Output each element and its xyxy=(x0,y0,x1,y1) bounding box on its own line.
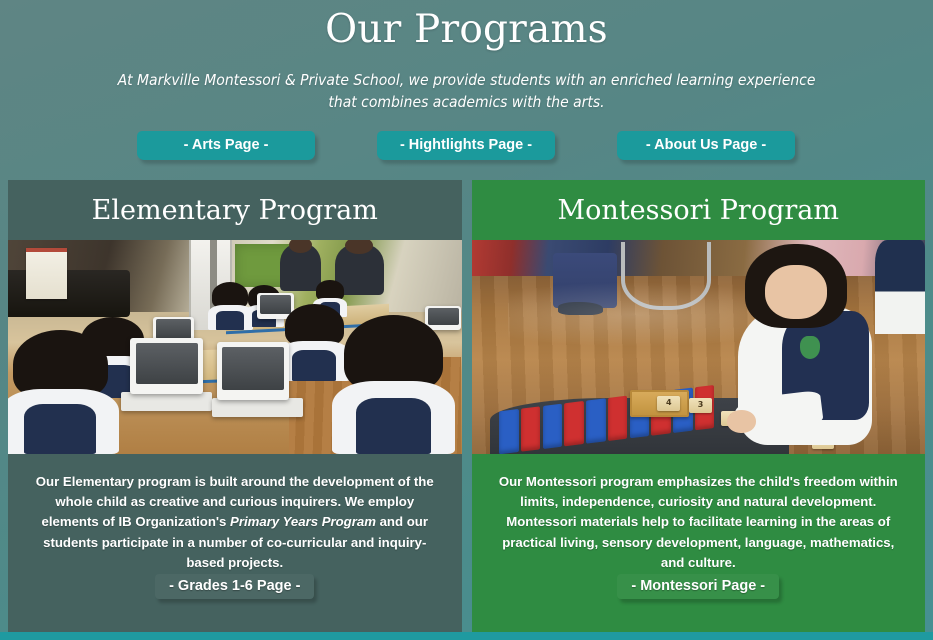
number-tile: 3 xyxy=(689,398,712,413)
programs-page: Our Programs At Markville Montessori & P… xyxy=(0,0,933,640)
program-panels: Elementary Program xyxy=(8,180,925,632)
page-header: Our Programs At Markville Montessori & P… xyxy=(0,0,933,176)
montessori-button-wrap: - Montessori Page - xyxy=(472,574,926,632)
panel-elementary-program[interactable]: Elementary Program xyxy=(8,180,462,632)
nav-button-arts-page[interactable]: - Arts Page - xyxy=(137,131,315,160)
montessori-child xyxy=(735,244,916,454)
page-subtitle: At Markville Montessori & Private School… xyxy=(107,69,827,114)
montessori-number-rods-photo: 4 3 7 6 5 4 xyxy=(472,240,926,454)
button-montessori-page[interactable]: - Montessori Page - xyxy=(617,574,779,599)
elementary-button-wrap: - Grades 1-6 Page - xyxy=(8,574,462,632)
bottom-accent-strip xyxy=(0,632,933,640)
nav-button-about-us-page[interactable]: - About Us Page - xyxy=(617,131,795,160)
nav-button-row: - Arts Page - - Hightlights Page - - Abo… xyxy=(0,131,933,165)
elementary-classroom-photo xyxy=(8,240,462,454)
panel-title-elementary: Elementary Program xyxy=(8,180,462,240)
button-grades-1-6-page[interactable]: - Grades 1-6 Page - xyxy=(155,574,314,599)
page-title: Our Programs xyxy=(0,0,933,55)
panel-description-montessori: Our Montessori program emphasizes the ch… xyxy=(472,454,926,574)
panel-description-elementary: Our Elementary program is built around t… xyxy=(8,454,462,574)
montessori-desc-part1: Our Montessori program emphasizes the ch… xyxy=(499,474,898,571)
elementary-desc-italic: Primary Years Program xyxy=(230,514,376,529)
panel-title-montessori: Montessori Program xyxy=(472,180,926,240)
nav-button-highlights-page[interactable]: - Hightlights Page - xyxy=(377,131,555,160)
panel-montessori-program[interactable]: Montessori Program xyxy=(472,180,926,632)
number-tile: 4 xyxy=(657,396,680,411)
